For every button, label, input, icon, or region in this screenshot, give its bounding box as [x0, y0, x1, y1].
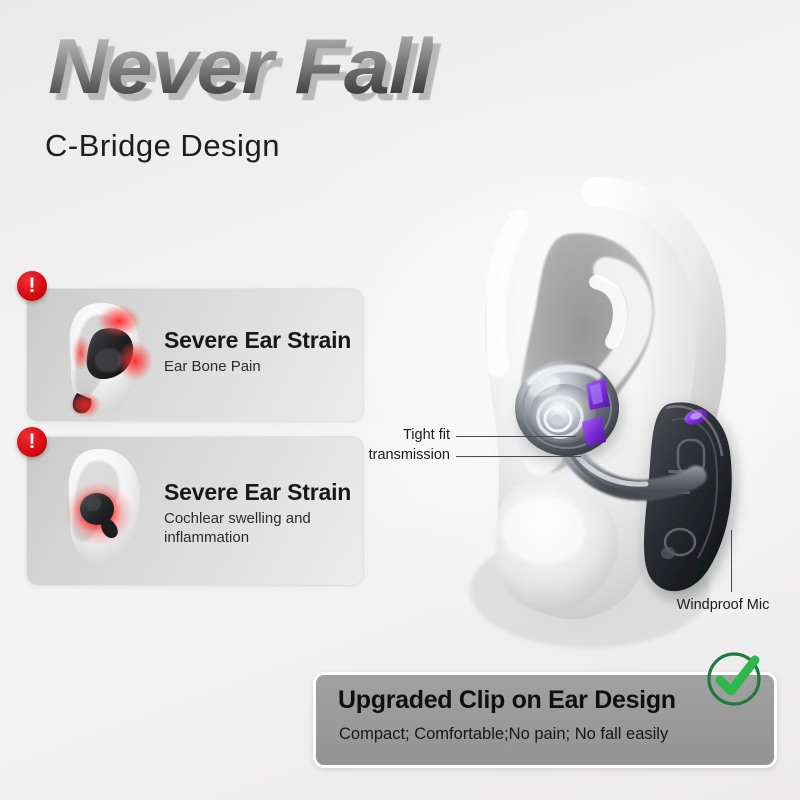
hero-ear-illustration: [400, 170, 800, 670]
pain-point-card-text: Severe Ear Strain Cochlear swelling and …: [164, 479, 353, 547]
banner-title: Upgraded Clip on Ear Design: [338, 686, 676, 715]
alert-exclamation-icon: [17, 271, 47, 301]
product-feature-page: Never Fall Never Fall C-Bridge Design: [0, 0, 800, 800]
pain-point-card-ear-bone-pain[interactable]: Severe Ear Strain Ear Bone Pain: [26, 288, 364, 422]
ear-thumbnail-in-ear-earbud: [41, 443, 161, 567]
page-title-text: Never Fall: [48, 18, 433, 114]
earbud-driver-unit: [515, 360, 619, 456]
pain-point-card-subtitle: Cochlear swelling and inflammation: [164, 509, 353, 547]
pain-point-card-subtitle: Ear Bone Pain: [164, 357, 353, 376]
callout-leader-windproof-mic: [731, 530, 732, 592]
alert-exclamation-icon: [17, 427, 47, 457]
page-title: Never Fall Never Fall: [48, 18, 688, 114]
callout-label-windproof-mic: Windproof Mic: [668, 596, 778, 615]
callout-leader-tight-fit: [456, 436, 576, 437]
pain-point-card-title: Severe Ear Strain: [164, 479, 353, 505]
callout-leader-bone-sound: [456, 456, 581, 457]
green-checkmark-circle-icon: [703, 648, 765, 710]
banner-subtitle: Compact; Comfortable;No pain; No fall ea…: [339, 725, 668, 744]
ear-thumbnail-clip-earbud: [41, 295, 161, 419]
pain-point-card-title: Severe Ear Strain: [164, 327, 353, 353]
pain-point-card-cochlear-swelling[interactable]: Severe Ear Strain Cochlear swelling and …: [26, 436, 364, 586]
pain-point-card-text: Severe Ear Strain Ear Bone Pain: [164, 327, 353, 376]
page-subtitle: C-Bridge Design: [45, 128, 280, 164]
